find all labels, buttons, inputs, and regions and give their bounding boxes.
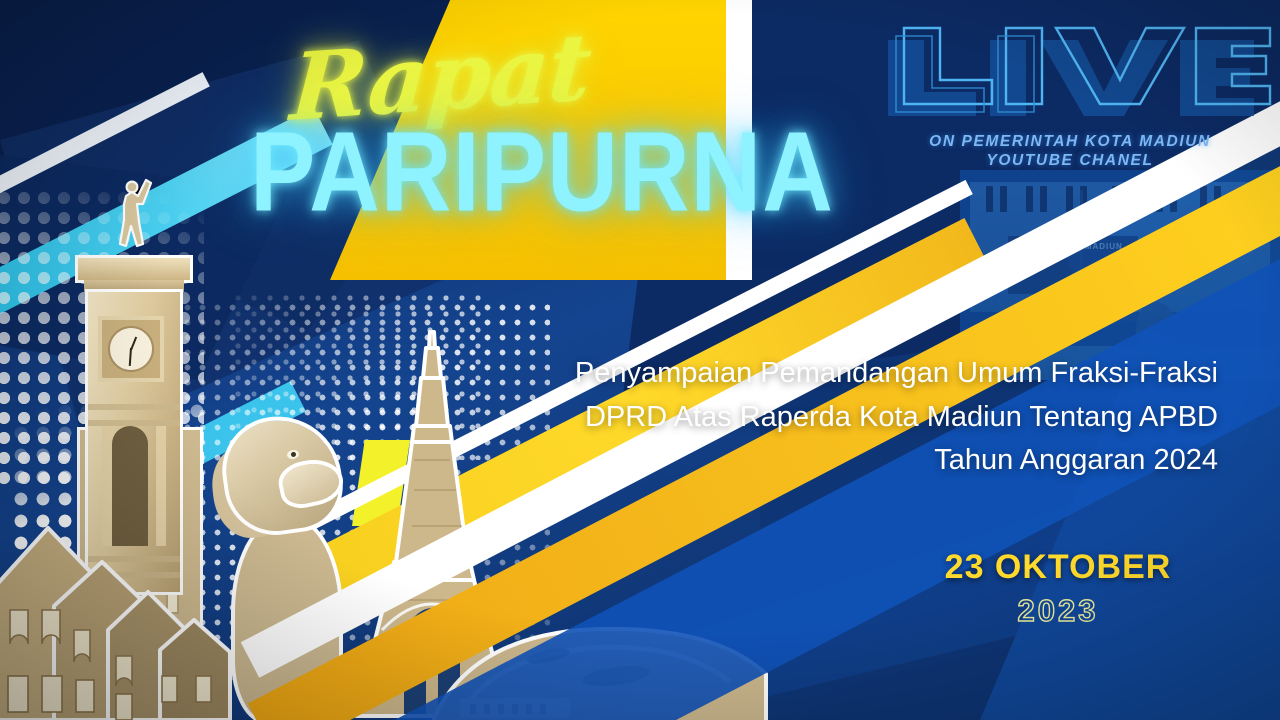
tower-cornice — [84, 280, 184, 292]
event-date-year: 2023 — [908, 593, 1208, 629]
houses-illustration — [0, 480, 240, 720]
live-text-icon — [880, 18, 1260, 130]
live-wordmark — [880, 18, 1260, 130]
tower-cap — [78, 258, 190, 280]
event-date-block: 23 OKTOBER 2023 — [908, 548, 1208, 629]
subtitle-line-2: DPRD Atas Raperda Kota Madiun Tentang AP… — [478, 396, 1218, 440]
city-hall-window — [1000, 186, 1007, 212]
live-badge: ON PEMERINTAH KOTA MADIUN YOUTUBE CHANEL — [880, 18, 1260, 171]
city-hall-window — [986, 186, 993, 212]
live-subline-2: YOUTUBE CHANEL — [880, 151, 1260, 170]
headline-display-word: PARIPURNA — [250, 116, 780, 229]
statue-icon — [112, 170, 158, 256]
tower-band — [88, 420, 180, 426]
event-subtitle: Penyampaian Pemandangan Umum Fraksi-Frak… — [478, 352, 1218, 483]
city-hall-window — [1040, 186, 1047, 212]
headline-block: Rapat PARIPURNA — [250, 42, 770, 212]
tower-band — [88, 404, 180, 410]
city-hall-window — [1026, 186, 1033, 212]
european-houses — [0, 480, 240, 720]
live-subline: ON PEMERINTAH KOTA MADIUN YOUTUBE CHANEL — [880, 132, 1260, 171]
subtitle-line-3: Tahun Anggaran 2024 — [478, 439, 1218, 483]
live-subline-1: ON PEMERINTAH KOTA MADIUN — [929, 133, 1211, 150]
event-date-day-month: 23 OKTOBER — [908, 548, 1208, 587]
livestream-banner: BALAI KOTA MADIUN — [0, 0, 1280, 720]
subtitle-line-1: Penyampaian Pemandangan Umum Fraksi-Frak… — [478, 352, 1218, 396]
